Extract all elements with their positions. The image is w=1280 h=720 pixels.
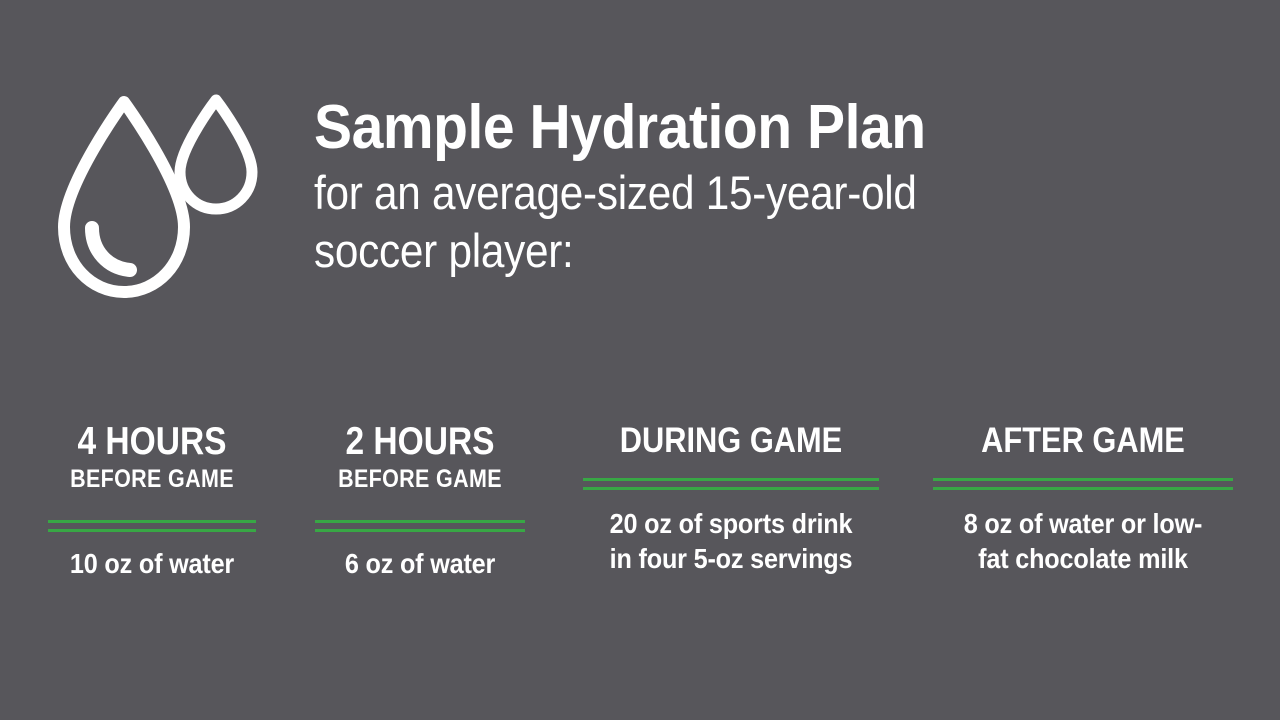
column-heading: AFTER GAME [951, 420, 1215, 462]
column-body-line-2: fat chocolate milk [948, 541, 1218, 576]
column-heading: 4 HOURS [63, 420, 242, 464]
hydration-schedule: 4 HOURS BEFORE GAME 10 oz of water 2 HOU… [0, 420, 1280, 630]
column-body-line-1: 6 oz of water [326, 546, 515, 581]
infographic-canvas: Sample Hydration Plan for an average-siz… [0, 0, 1280, 720]
divider-rule-bottom [315, 529, 525, 532]
column-subheading: BEFORE GAME [330, 464, 511, 494]
column-heading-group: AFTER GAME [933, 420, 1233, 462]
column-heading: 2 HOURS [330, 420, 511, 464]
page-subtitle-line-1: for an average-sized 15-year-old [314, 164, 1088, 222]
schedule-column-2-hours-before: 2 HOURS BEFORE GAME 6 oz of water [315, 420, 525, 620]
column-body-line-1: 10 oz of water [58, 546, 245, 581]
green-divider [933, 478, 1233, 490]
green-divider [315, 520, 525, 532]
column-heading-group: 2 HOURS BEFORE GAME [315, 420, 525, 494]
green-divider [583, 478, 879, 490]
column-body-line-2: in four 5-oz servings [598, 541, 864, 576]
schedule-column-4-hours-before: 4 HOURS BEFORE GAME 10 oz of water [48, 420, 256, 620]
green-divider [48, 520, 256, 532]
page-title: Sample Hydration Plan [314, 92, 1105, 164]
divider-rule-bottom [933, 487, 1233, 490]
divider-rule-bottom [583, 487, 879, 490]
column-body: 20 oz of sports drink in four 5-oz servi… [583, 506, 879, 576]
schedule-column-during-game: DURING GAME 20 oz of sports drink in fou… [583, 420, 879, 620]
column-body: 8 oz of water or low- fat chocolate milk [933, 506, 1233, 576]
column-heading: DURING GAME [601, 420, 861, 462]
column-body: 10 oz of water [48, 546, 256, 581]
water-droplet-icon [48, 88, 263, 308]
column-body: 6 oz of water [315, 546, 525, 581]
header-block: Sample Hydration Plan for an average-siz… [0, 0, 1280, 400]
page-subtitle-line-2: soccer player: [314, 222, 1088, 280]
column-body-line-1: 20 oz of sports drink [598, 506, 864, 541]
divider-rule-bottom [48, 529, 256, 532]
column-subheading: BEFORE GAME [63, 464, 242, 494]
schedule-column-after-game: AFTER GAME 8 oz of water or low- fat cho… [933, 420, 1233, 620]
title-block: Sample Hydration Plan for an average-siz… [314, 92, 1174, 280]
column-heading-group: DURING GAME [583, 420, 879, 462]
column-heading-group: 4 HOURS BEFORE GAME [48, 420, 256, 494]
column-body-line-1: 8 oz of water or low- [948, 506, 1218, 541]
